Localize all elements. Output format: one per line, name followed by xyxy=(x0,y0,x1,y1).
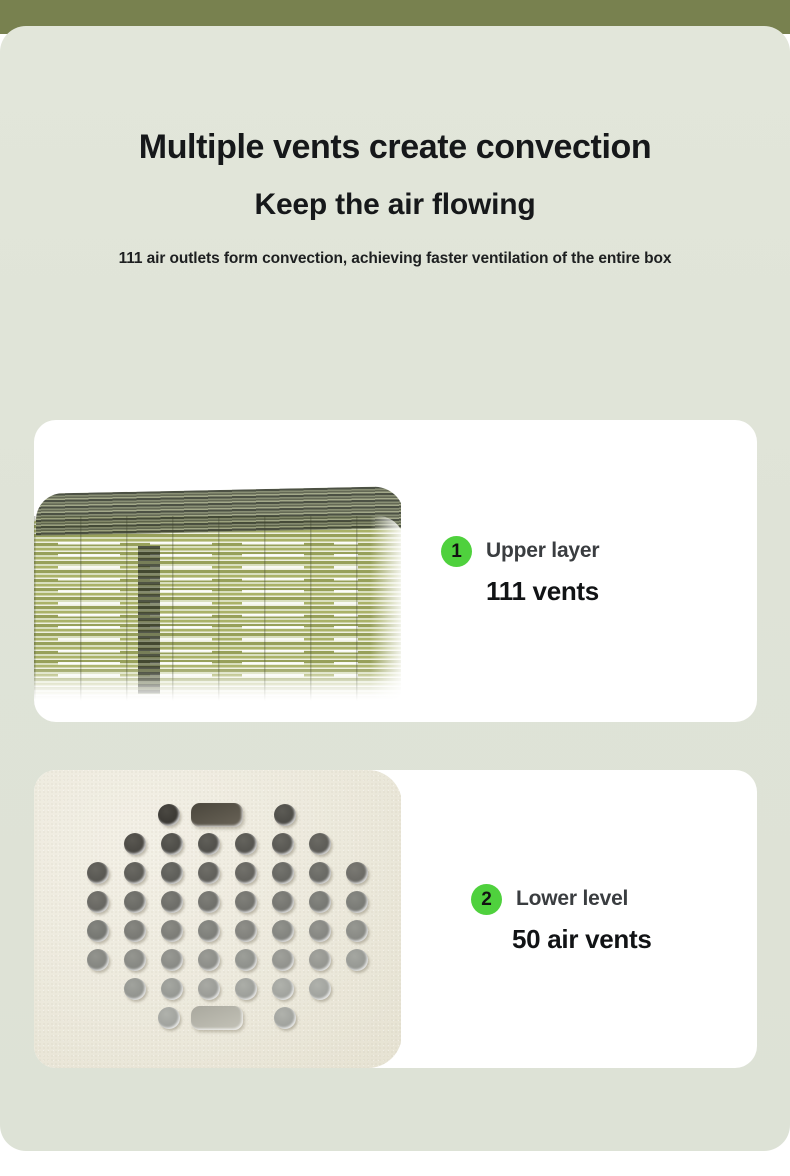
vent-hole xyxy=(235,949,257,971)
slat-bottom-fade xyxy=(34,672,401,706)
product-feature-page: Multiple vents create convection Keep th… xyxy=(0,0,790,1176)
vent-hole xyxy=(235,833,257,855)
vent-hole xyxy=(198,949,220,971)
vent-hole xyxy=(198,862,220,884)
lower-level-value: 50 air vents xyxy=(512,924,757,955)
vent-hole xyxy=(124,891,146,913)
vent-hole xyxy=(272,891,294,913)
vent-hole xyxy=(124,978,146,1000)
lower-level-label-row: 2 Lower level xyxy=(471,884,757,915)
vent-hole xyxy=(235,978,257,1000)
main-content-panel: Multiple vents create convection Keep th… xyxy=(0,26,790,1151)
vent-hole xyxy=(198,891,220,913)
vent-hole xyxy=(272,949,294,971)
vent-hole xyxy=(346,862,368,884)
beige-vent-panel-photo xyxy=(34,770,401,1068)
feature-card-lower-level: 2 Lower level 50 air vents xyxy=(34,770,757,1068)
upper-layer-image xyxy=(34,420,401,722)
lower-level-label: Lower level xyxy=(516,887,628,911)
vent-hole xyxy=(161,862,183,884)
badge-number-2: 2 xyxy=(471,884,502,915)
vent-hole xyxy=(309,833,331,855)
vent-hole xyxy=(161,949,183,971)
vent-hole xyxy=(346,891,368,913)
vent-hole xyxy=(158,804,180,826)
vent-slot xyxy=(191,803,243,827)
vent-hole xyxy=(87,949,109,971)
upper-layer-info: 1 Upper layer 111 vents xyxy=(401,420,757,722)
page-subtitle: Keep the air flowing xyxy=(0,190,790,220)
vent-hole xyxy=(161,920,183,942)
vent-hole xyxy=(124,862,146,884)
vent-hole xyxy=(309,862,331,884)
vent-hole xyxy=(346,920,368,942)
upper-layer-label: Upper layer xyxy=(486,539,599,563)
page-description: 111 air outlets form convection, achievi… xyxy=(0,250,790,269)
heading-block: Multiple vents create convection Keep th… xyxy=(0,26,790,269)
vent-hole xyxy=(124,949,146,971)
vent-hole xyxy=(161,891,183,913)
vent-hole xyxy=(235,891,257,913)
vent-hole-grid xyxy=(34,770,401,1068)
vent-hole xyxy=(274,804,296,826)
vent-slot xyxy=(191,1006,243,1030)
vent-hole xyxy=(346,949,368,971)
lower-level-info: 2 Lower level 50 air vents xyxy=(401,770,757,1068)
vent-hole xyxy=(272,833,294,855)
vent-hole xyxy=(309,949,331,971)
vent-hole xyxy=(87,920,109,942)
vent-hole xyxy=(124,920,146,942)
slat-vent-slits xyxy=(58,542,358,682)
vent-hole xyxy=(272,920,294,942)
vent-hole xyxy=(158,1007,180,1029)
slat-top-cap xyxy=(36,486,401,536)
vent-hole xyxy=(274,1007,296,1029)
vent-hole xyxy=(198,978,220,1000)
upper-layer-label-row: 1 Upper layer xyxy=(441,536,757,567)
vent-hole xyxy=(309,891,331,913)
vent-hole xyxy=(161,833,183,855)
vent-hole xyxy=(309,920,331,942)
vent-hole xyxy=(235,920,257,942)
vent-hole xyxy=(198,833,220,855)
vent-hole xyxy=(309,978,331,1000)
upper-layer-value: 111 vents xyxy=(486,576,757,607)
feature-card-upper-layer: 1 Upper layer 111 vents xyxy=(34,420,757,722)
vent-hole xyxy=(272,978,294,1000)
vent-hole xyxy=(87,891,109,913)
vent-hole xyxy=(87,862,109,884)
page-title: Multiple vents create convection xyxy=(0,130,790,164)
lower-level-image xyxy=(34,770,401,1068)
vent-hole xyxy=(161,978,183,1000)
badge-number-1: 1 xyxy=(441,536,472,567)
vent-hole xyxy=(198,920,220,942)
vent-hole xyxy=(272,862,294,884)
vent-hole xyxy=(124,833,146,855)
vent-hole xyxy=(235,862,257,884)
green-slat-vent-photo xyxy=(34,516,401,706)
